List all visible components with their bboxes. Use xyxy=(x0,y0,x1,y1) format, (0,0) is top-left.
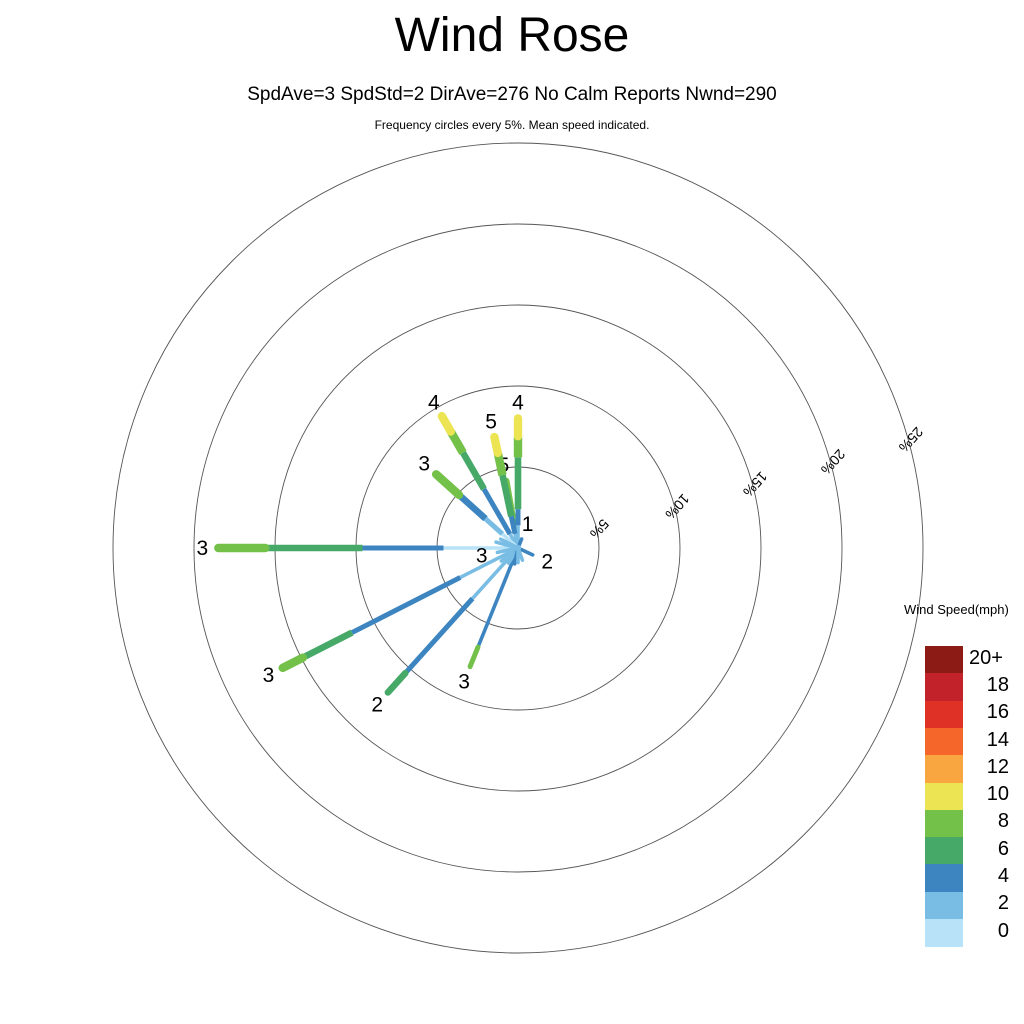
petal-segment xyxy=(463,453,484,489)
petal-segment xyxy=(303,633,352,658)
legend-label-16: 16 xyxy=(965,701,1009,724)
petal-segment xyxy=(442,416,451,431)
petal-mean-speed-label: 4 xyxy=(428,391,440,414)
petal-mean-speed-label: 5 xyxy=(485,410,497,433)
legend-label-18: 18 xyxy=(965,674,1009,697)
petal-mean-speed-label: 3 xyxy=(196,537,208,560)
legend-swatch-8 xyxy=(925,810,963,838)
petal-segment xyxy=(459,495,485,519)
petal-segment xyxy=(388,673,405,692)
ring-label-25pct: 25% xyxy=(896,424,927,456)
rose-center-hub xyxy=(515,545,521,551)
legend-label-4: 4 xyxy=(965,865,1009,888)
legend-label-2: 2 xyxy=(965,892,1009,915)
petal-mean-speed-label: 2 xyxy=(541,551,553,574)
legend-label-10: 10 xyxy=(965,783,1009,806)
petal-segment xyxy=(436,474,459,495)
ring-label-10pct: 10% xyxy=(662,491,693,523)
legend-swatch-2 xyxy=(925,892,963,920)
legend-swatch-10 xyxy=(925,783,963,811)
legend-label-0: 0 xyxy=(965,920,1009,943)
legend-swatch-18 xyxy=(925,673,963,701)
legend-swatch-0 xyxy=(925,919,963,947)
legend-title: Wind Speed(mph) xyxy=(904,602,1009,617)
legend-swatch-12 xyxy=(925,755,963,783)
legend-label-12: 12 xyxy=(965,756,1009,779)
ring-label-15pct: 15% xyxy=(740,469,771,501)
legend-swatch-4 xyxy=(925,864,963,892)
petal-mean-speed-label: 3 xyxy=(458,670,470,693)
legend-label-14: 14 xyxy=(965,729,1009,752)
petal-segment xyxy=(405,599,472,674)
petal-segment xyxy=(352,577,460,632)
legend-swatch-6 xyxy=(925,837,963,865)
petal-segment xyxy=(283,658,303,668)
petal-segment xyxy=(503,475,512,516)
legend-swatch-14 xyxy=(925,728,963,756)
petal-mean-speed-label: 2 xyxy=(371,693,383,716)
legend-label-8: 8 xyxy=(965,810,1009,833)
ring-label-5pct: 5% xyxy=(587,516,612,542)
petal-mean-speed-label: 3 xyxy=(418,453,430,476)
petal-7 xyxy=(388,548,518,692)
legend-label-20plus: 20+ xyxy=(969,647,1017,670)
legend-label-6: 6 xyxy=(965,838,1009,861)
wind-rose-page: Wind Rose SpdAve=3 SpdStd=2 DirAve=276 N… xyxy=(0,0,1024,1024)
petal-mean-speed-label: 3 xyxy=(476,545,488,568)
petal-mean-speed-label: 3 xyxy=(263,664,275,687)
legend-swatch-16 xyxy=(925,701,963,729)
petal-segment xyxy=(494,437,497,453)
petal-segment xyxy=(470,647,478,667)
petal-mean-speed-label: 4 xyxy=(512,391,524,414)
ring-label-20pct: 20% xyxy=(818,446,849,478)
petal-mean-speed-label: 1 xyxy=(522,513,534,536)
wind-rose-plot: 5%10%15%20%25%545433323321 xyxy=(0,0,1024,1024)
legend-swatch-20plus xyxy=(925,646,963,674)
